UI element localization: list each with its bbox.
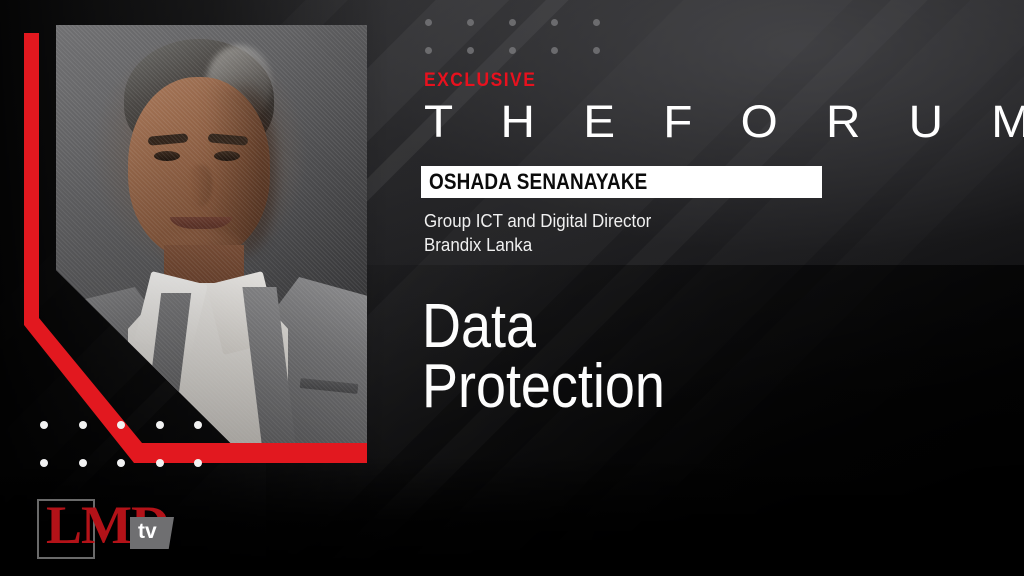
guest-role-line-2: Brandix Lanka: [424, 233, 651, 257]
logo-tv-text: tv: [138, 520, 157, 544]
dot: [117, 459, 125, 467]
logo-tv-tag: tv: [130, 517, 174, 549]
dot: [509, 19, 516, 26]
guest-photo: [56, 25, 367, 455]
show-title: T H E F O R U M: [424, 96, 1024, 148]
dot-grid-top: [425, 19, 635, 75]
dot: [194, 459, 202, 467]
dot: [467, 19, 474, 26]
guest-name: OSHADA SENANAYAKE: [429, 169, 647, 195]
dot: [425, 19, 432, 26]
photo-color-grade: [56, 25, 367, 455]
dot: [79, 459, 87, 467]
dot: [509, 47, 516, 54]
lmd-tv-logo[interactable]: LMD tv: [30, 495, 190, 563]
dot: [551, 47, 558, 54]
dot: [467, 47, 474, 54]
dot: [40, 421, 48, 429]
dot: [156, 421, 164, 429]
guest-name-bar: OSHADA SENANAYAKE: [421, 166, 822, 198]
dot: [117, 421, 125, 429]
dot: [79, 421, 87, 429]
topic-line-2: Protection: [422, 357, 665, 417]
dot-grid-bottom: [40, 421, 233, 497]
title-card: EXCLUSIVE T H E F O R U M OSHADA SENANAY…: [0, 0, 1024, 576]
dot: [593, 19, 600, 26]
dot: [156, 459, 164, 467]
dot: [551, 19, 558, 26]
eyebrow-label: EXCLUSIVE: [424, 70, 536, 92]
dot: [425, 47, 432, 54]
guest-role-line-1: Group ICT and Digital Director: [424, 209, 651, 233]
guest-role: Group ICT and Digital Director Brandix L…: [424, 209, 651, 257]
dot: [40, 459, 48, 467]
topic-line-1: Data: [422, 297, 665, 357]
topic-headline: Data Protection: [422, 297, 665, 417]
dot: [593, 47, 600, 54]
guest-photo-block: [24, 25, 367, 455]
dot: [194, 421, 202, 429]
